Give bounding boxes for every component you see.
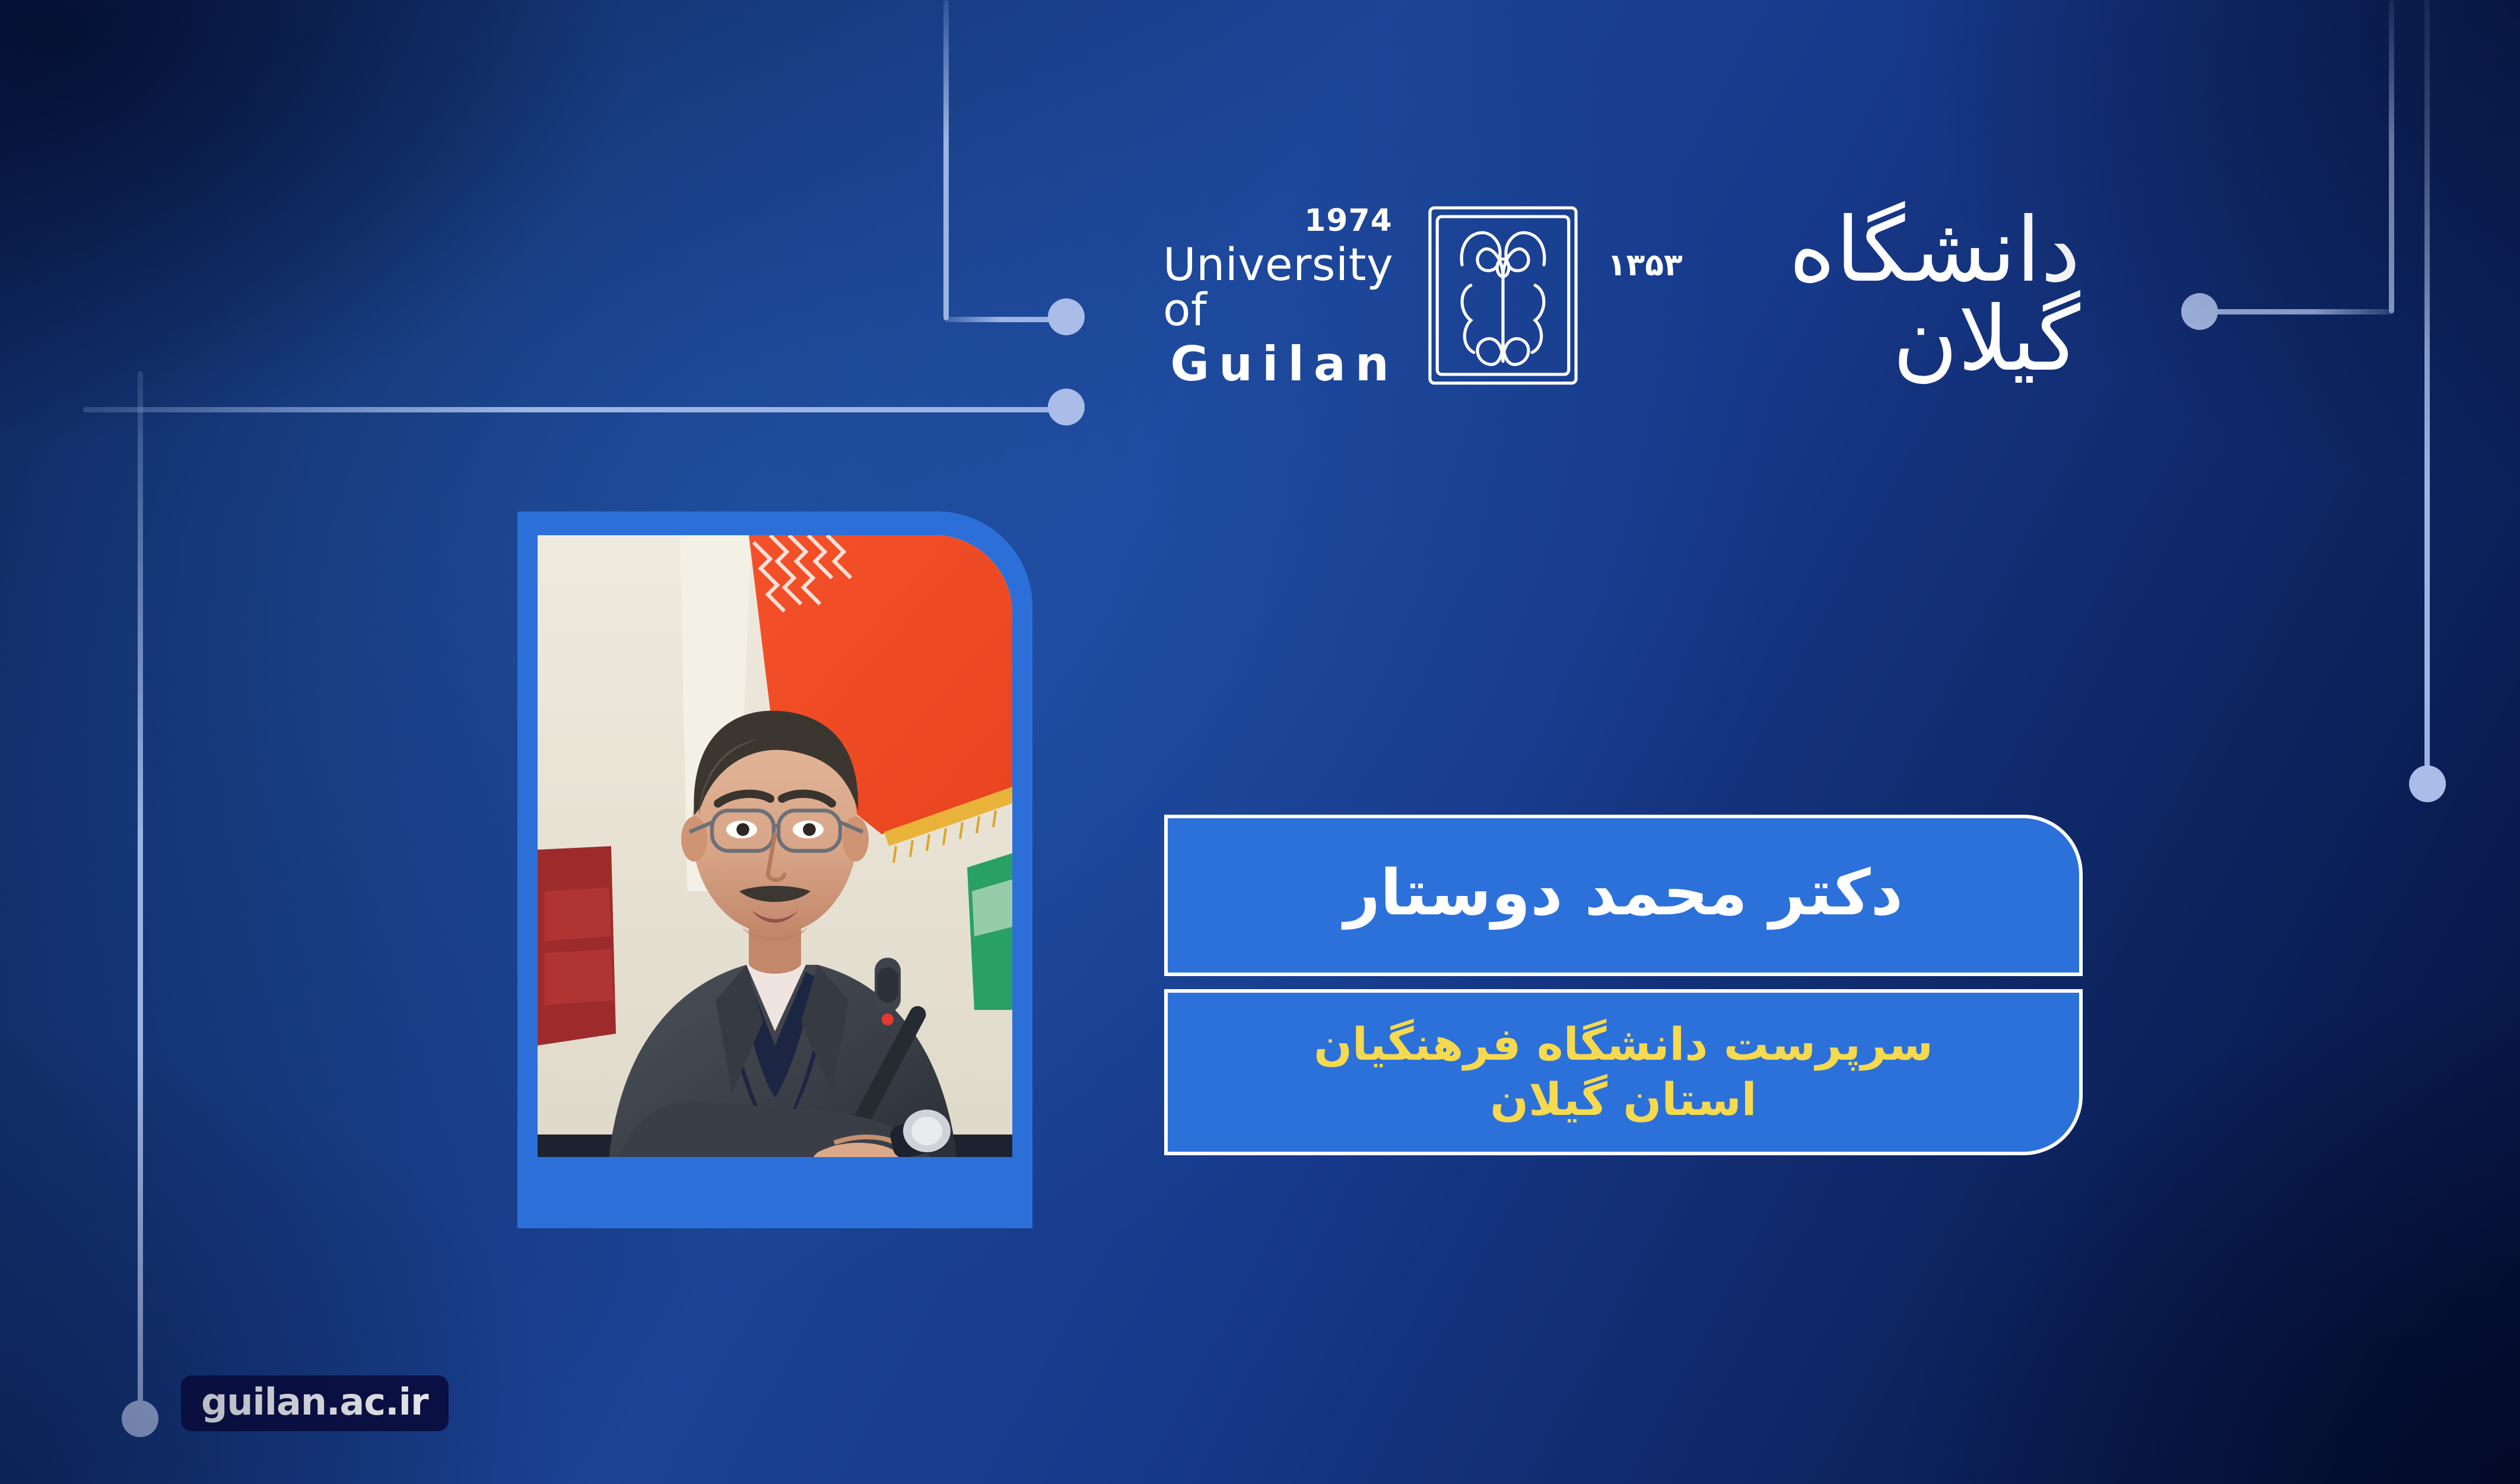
portrait-photo bbox=[538, 535, 1012, 1157]
logo-year-gregorian: 1974 bbox=[1304, 205, 1393, 236]
website-url: guilan.ac.ir bbox=[201, 1384, 428, 1421]
dot-right-lower bbox=[2409, 765, 2446, 802]
dot-bottom-left bbox=[122, 1400, 158, 1437]
dot-top-left-b bbox=[1048, 389, 1085, 425]
dot-top-left-a bbox=[1048, 298, 1085, 335]
logo-year-hijri: ۱۳۵۳ bbox=[1607, 247, 1683, 283]
person-name-banner: دکتر محمد دوستار bbox=[1164, 815, 2083, 976]
logo-university-of: University of bbox=[1163, 242, 1399, 332]
hline-right-decor bbox=[2213, 309, 2394, 314]
person-title-line-1: سرپرست دانشگاه فرهنگیان bbox=[1314, 1017, 1933, 1072]
website-chip[interactable]: guilan.ac.ir bbox=[181, 1375, 449, 1431]
vline-right-b-decor bbox=[2424, 0, 2430, 771]
poster-canvas: 1974 University of Guilan ۱۳۵۳ د bbox=[0, 0, 2520, 1484]
hline-lower-decor bbox=[83, 407, 1068, 412]
vline-right-a-decor bbox=[2389, 0, 2394, 313]
portrait-photo-mask bbox=[538, 535, 1012, 1157]
person-name: دکتر محمد دوستار bbox=[1344, 862, 1903, 924]
guilan-university-emblem-icon bbox=[1414, 201, 1592, 393]
logo-english-block: 1974 University of Guilan bbox=[1163, 205, 1399, 388]
vline-left-decor bbox=[138, 371, 143, 1406]
vline-top-mid-decor bbox=[943, 0, 949, 320]
portrait-frame bbox=[517, 511, 1032, 1228]
logo-persian-block: ۱۳۵۳ دانشگاه گیلان bbox=[1607, 209, 2089, 384]
person-title-banner: سرپرست دانشگاه فرهنگیان استان گیلان bbox=[1164, 989, 2083, 1155]
dot-top-right bbox=[2181, 293, 2218, 330]
person-title-line-2: استان گیلان bbox=[1490, 1072, 1756, 1127]
university-logo: 1974 University of Guilan ۱۳۵۳ د bbox=[1163, 196, 2089, 398]
logo-university-name-persian: دانشگاه گیلان bbox=[1683, 206, 2080, 384]
logo-guilan: Guilan bbox=[1170, 341, 1398, 388]
